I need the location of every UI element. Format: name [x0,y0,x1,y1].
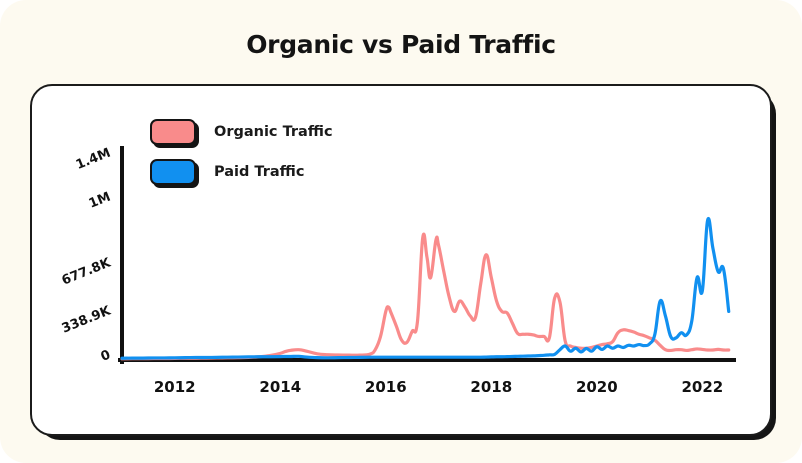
x-axis-tick-label: 2012 [135,378,215,396]
x-axis-tick-label: 2014 [240,378,320,396]
series-line-organic-traffic [122,234,729,359]
x-axis-tick-label: 2020 [557,378,637,396]
x-axis-tick-label: 2016 [346,378,426,396]
legend-swatch-paid-wrap [150,159,196,185]
legend-label-organic: Organic Traffic [214,124,333,140]
x-axis-tick-label: 2018 [451,378,531,396]
legend-label-paid: Paid Traffic [214,164,304,180]
chart-page: Organic vs Paid Traffic Organic Traffic … [0,0,802,463]
chart-legend: Organic Traffic Paid Traffic [150,112,333,192]
legend-item-organic[interactable]: Organic Traffic [150,112,333,152]
page-title: Organic vs Paid Traffic [0,30,802,59]
chart-card: Organic Traffic Paid Traffic 1.4M 1M 677… [30,84,772,436]
legend-swatch-organic [150,119,196,145]
legend-swatch-organic-wrap [150,119,196,145]
legend-item-paid[interactable]: Paid Traffic [150,152,333,192]
legend-swatch-paid [150,159,196,185]
x-axis-tick-label: 2022 [662,378,742,396]
